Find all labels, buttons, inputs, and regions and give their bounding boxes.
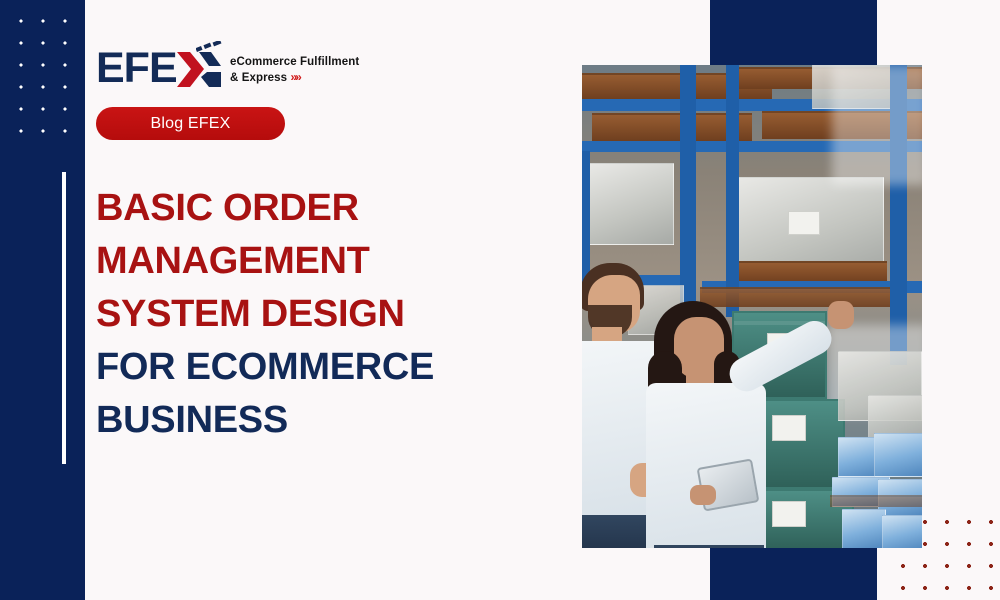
left-navy-panel bbox=[0, 0, 85, 600]
tagline-line-2: & Express bbox=[230, 72, 287, 84]
efex-logo-mark: EFE bbox=[96, 44, 221, 92]
headline-line-3: SYSTEM DESIGN bbox=[96, 288, 516, 341]
navy-block-top bbox=[710, 0, 877, 66]
brand-tagline: eCommerce Fulfillment & Express »» bbox=[230, 51, 359, 86]
vertical-accent-line bbox=[62, 172, 66, 464]
page-title: BASIC ORDER MANAGEMENT SYSTEM DESIGN FOR… bbox=[96, 182, 516, 447]
chevron-right-icon: »» bbox=[290, 70, 299, 84]
logo-x-icon bbox=[177, 50, 221, 90]
logo-speed-dots-icon bbox=[196, 41, 222, 55]
tagline-line-2-wrap: & Express »» bbox=[230, 70, 359, 86]
navy-block-bottom bbox=[710, 548, 877, 600]
headline-line-5: BUSINESS bbox=[96, 394, 516, 447]
headline-line-2: MANAGEMENT bbox=[96, 235, 516, 288]
content-column: EFE eCommerce Fulfillment & Express »» B… bbox=[96, 0, 566, 600]
artwork-area bbox=[566, 0, 1000, 600]
blog-efex-badge[interactable]: Blog EFEX bbox=[96, 107, 285, 140]
brand-logo[interactable]: EFE eCommerce Fulfillment & Express »» bbox=[96, 44, 359, 92]
white-dot-grid-icon bbox=[8, 8, 78, 144]
headline-line-1: BASIC ORDER bbox=[96, 182, 516, 235]
tagline-line-1: eCommerce Fulfillment bbox=[230, 55, 359, 70]
headline-line-4: FOR ECOMMERCE bbox=[96, 341, 516, 394]
hero-photo bbox=[582, 65, 922, 548]
logo-wordmark: EFE bbox=[96, 44, 177, 92]
